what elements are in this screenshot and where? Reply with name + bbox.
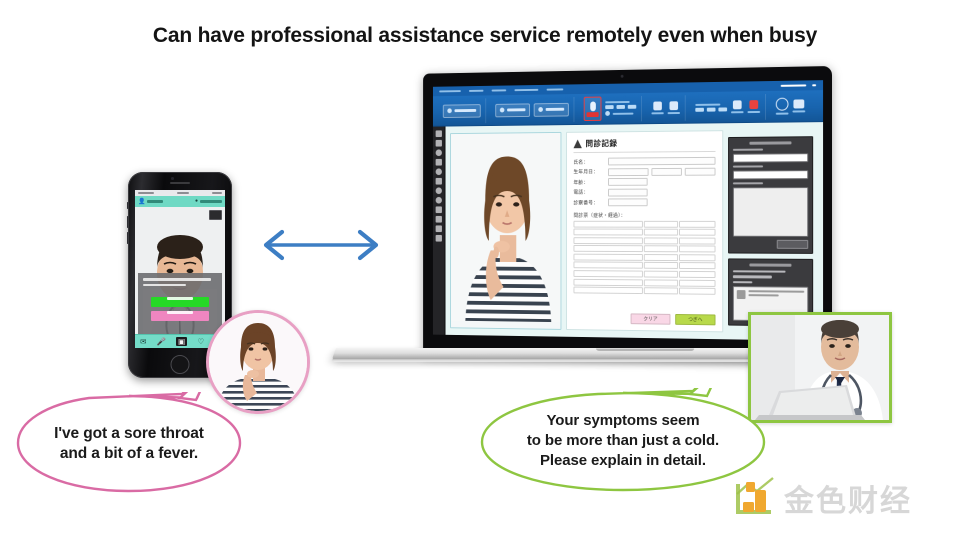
tool-eraser-icon[interactable] (436, 159, 442, 166)
chat-message-sender (748, 290, 804, 293)
form-row-chart-number: 診察番号： (573, 198, 715, 206)
laptop-webcam-icon (621, 75, 624, 78)
chat-history-panel-title (749, 263, 791, 266)
form-input-chart-number[interactable] (608, 198, 648, 206)
tool-brush-icon[interactable] (436, 149, 442, 156)
chat-meta-doctor (733, 270, 786, 273)
patient-speech-bubble: I've got a sore throat and a bit of a fe… (14, 392, 244, 496)
memo-textarea[interactable] (733, 187, 808, 237)
app-work-area: 問診記録 氏名： 生年月日： (433, 122, 823, 341)
phone-cancel-call-button[interactable] (151, 311, 209, 321)
form-label-name: 氏名： (573, 158, 605, 165)
tool-zoom-icon[interactable] (436, 187, 442, 194)
form-input-birth-month[interactable] (652, 167, 682, 175)
menu-item-help[interactable] (547, 88, 564, 91)
table-row[interactable] (573, 262, 715, 270)
table-row[interactable] (573, 270, 715, 278)
reception-number-label (733, 165, 763, 167)
doctor-speech-bubble: Your symptoms seem to be more than just … (478, 388, 768, 494)
form-input-name[interactable] (608, 157, 715, 166)
laptop-screen: 問診記録 氏名： 生年月日： (433, 80, 823, 341)
display-settings-button[interactable] (731, 100, 744, 113)
tool-pointer-icon[interactable] (436, 130, 442, 137)
phone-dialog-message-line-2 (143, 284, 186, 287)
ribbon-group-connection (438, 98, 486, 123)
exit-button[interactable] (792, 99, 805, 112)
save-button[interactable] (651, 101, 663, 114)
tool-text-icon[interactable] (436, 178, 442, 185)
form-input-age[interactable] (608, 178, 648, 186)
table-row[interactable] (573, 245, 715, 252)
person-icon (573, 139, 581, 148)
phone-home-button[interactable] (171, 355, 190, 374)
phone-signal-icon: ● (195, 199, 198, 204)
telemedicine-app-window: 問診記録 氏名： 生年月日： (433, 80, 823, 341)
table-row[interactable] (573, 278, 715, 286)
form-row-age: 年齢： (573, 178, 715, 186)
view-options-group (695, 103, 727, 111)
phone-video-call-view (135, 207, 225, 348)
patient-name-input[interactable] (733, 153, 808, 162)
help-button[interactable] (776, 98, 789, 115)
phone-tab-heart-icon[interactable]: ♡ (197, 338, 204, 346)
menu-item-edit[interactable] (469, 89, 483, 92)
phone-app-header: 👤 ● (135, 196, 225, 207)
phone-volume-up-button[interactable] (127, 216, 129, 228)
patient-bubble-text: I've got a sore throat and a bit of a fe… (54, 424, 204, 465)
memo-label (733, 182, 763, 184)
ribbon-group-view (691, 94, 766, 121)
table-row[interactable] (573, 229, 715, 236)
watermark-text: 金色财经 (784, 476, 912, 520)
tool-palette (433, 127, 446, 335)
patient-video-feed[interactable] (450, 132, 561, 330)
phone-self-view-thumbnail[interactable] (209, 210, 222, 220)
page-title: Can have professional assistance service… (0, 24, 970, 48)
phone-accept-call-button[interactable] (151, 297, 209, 307)
table-row[interactable] (573, 237, 715, 244)
tool-crop-icon[interactable] (436, 197, 442, 204)
chat-meta-time (733, 276, 772, 279)
table-row[interactable] (573, 287, 715, 295)
patient-info-panel (728, 136, 813, 254)
clear-button[interactable]: クリア (631, 313, 671, 324)
menu-item-window[interactable] (514, 89, 538, 92)
laptop-trackpad-notch (596, 349, 694, 351)
doctor-bubble-text: Your symptoms seem to be more than just … (527, 411, 719, 470)
phone-volume-down-button[interactable] (127, 232, 129, 244)
chat-message-time (748, 294, 779, 296)
form-header: 問診記録 (573, 137, 715, 153)
form-label-birthdate: 生年月日： (573, 168, 605, 175)
next-button[interactable]: つぎへ (675, 314, 715, 325)
form-input-birth-year[interactable] (608, 168, 649, 176)
microphone-select-button[interactable] (534, 102, 569, 116)
doctor-photo (748, 312, 892, 423)
chat-messages-label (733, 281, 752, 284)
patient-video-image (451, 133, 561, 322)
tool-shape-icon[interactable] (436, 206, 442, 213)
patient-name-label (733, 149, 763, 151)
table-row[interactable] (573, 220, 715, 227)
phone-tab-camera-icon[interactable]: ▣ (176, 337, 187, 347)
form-label-age: 年齢： (573, 179, 605, 186)
phone-screen: 👤 ● (135, 190, 225, 348)
form-input-birth-day[interactable] (685, 167, 716, 175)
menu-user-name[interactable] (781, 84, 807, 87)
form-title: 問診記録 (586, 138, 618, 149)
alert-button[interactable] (747, 100, 760, 113)
phone-tab-call-icon[interactable]: ✉ (140, 338, 146, 346)
tool-pen-icon[interactable] (436, 140, 442, 147)
form-table-caption: 問診票（症状・経過）： (573, 212, 715, 219)
form-label-phone: 電話： (573, 189, 605, 196)
connection-status-group (605, 101, 636, 116)
app-ribbon-toolbar (433, 90, 823, 127)
menu-item-file[interactable] (439, 90, 461, 93)
menu-item-view[interactable] (492, 89, 507, 92)
patient-info-panel-title (749, 141, 791, 144)
form-row-phone: 電話： (573, 188, 715, 196)
slide-canvas: Can have professional assistance service… (0, 0, 970, 537)
ribbon-group-devices (491, 96, 575, 122)
symptom-table (573, 220, 715, 310)
doctor-photo-image (751, 315, 889, 420)
chat-avatar-icon (737, 290, 746, 299)
phone-user-icon: 👤 (138, 199, 145, 205)
medical-record-form: 問診記録 氏名： 生年月日： (566, 130, 723, 332)
form-row-name: 氏名： (573, 157, 715, 166)
camera-select-button[interactable] (495, 103, 530, 117)
ribbon-group-capture (647, 95, 686, 121)
form-label-chart-number: 診察番号： (573, 199, 605, 206)
menu-user-chevron-down-icon[interactable] (812, 84, 816, 87)
ribbon-group-record (579, 95, 642, 121)
phone-tab-mic-icon[interactable]: 🎤 (157, 338, 166, 346)
ribbon-group-help (771, 93, 810, 119)
table-row[interactable] (573, 254, 715, 262)
phone-earpiece (170, 182, 190, 184)
phone-mute-switch[interactable] (127, 202, 129, 209)
side-panels (728, 129, 818, 334)
tool-color-icon[interactable] (436, 235, 442, 242)
form-actions: クリア つぎへ (573, 309, 715, 326)
form-input-phone[interactable] (608, 188, 648, 196)
form-row-birthdate: 生年月日： (573, 167, 715, 176)
register-button[interactable] (777, 240, 808, 249)
connect-button[interactable] (443, 104, 481, 118)
print-button[interactable] (668, 101, 680, 114)
phone-dialog-message-line-1 (143, 278, 211, 281)
reception-number-input[interactable] (733, 170, 808, 179)
tool-line-icon[interactable] (436, 216, 442, 223)
record-button[interactable] (584, 97, 602, 121)
app-canvas: 問診記録 氏名： 生年月日： (446, 122, 824, 341)
tool-fill-icon[interactable] (436, 168, 442, 175)
tool-measure-icon[interactable] (436, 225, 442, 232)
phone-front-camera-icon (171, 177, 174, 180)
